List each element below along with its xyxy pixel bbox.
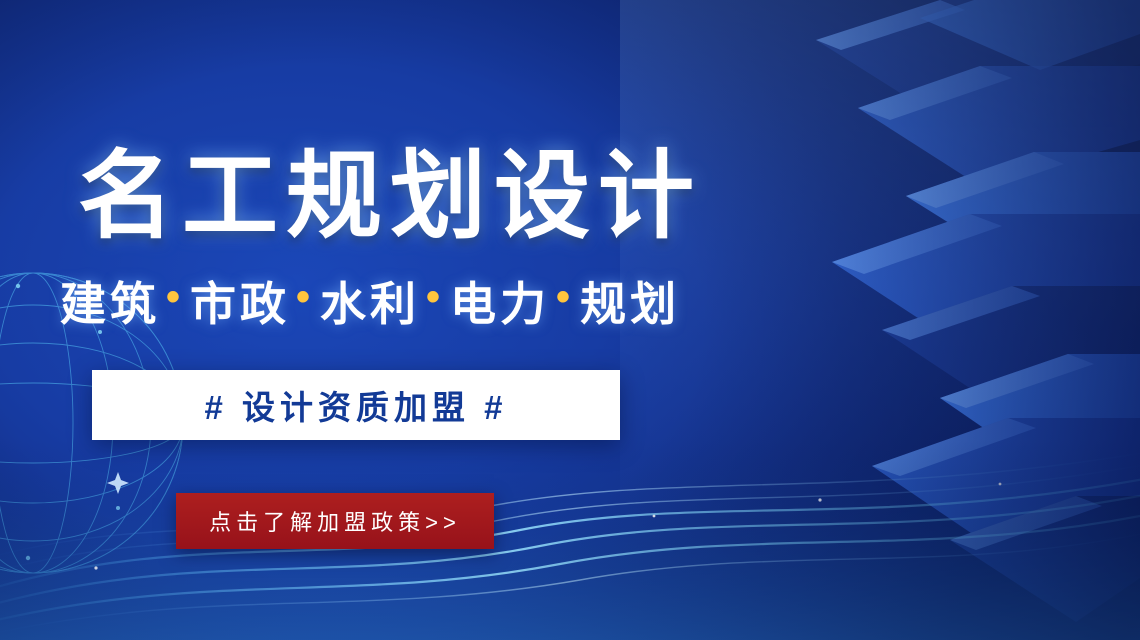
cta-button[interactable]: 点击了解加盟政策>> [176,493,494,549]
service-item-0: 建筑 [60,268,160,334]
separator-dot-2: • [420,275,450,320]
promo-banner: 名工规划设计 建筑 • 市政 • 水利 • 电力 • 规划 # 设计资质加盟 #… [0,0,1140,640]
separator-dot-3: • [550,275,580,320]
cta-button-label: 点击了解加盟政策>> [209,505,461,537]
service-list: 建筑 • 市政 • 水利 • 电力 • 规划 [60,268,680,334]
separator-dot-1: • [290,275,320,320]
service-item-4: 规划 [580,268,680,334]
headline-title: 名工规划设计 [78,118,702,257]
banner-content: 名工规划设计 建筑 • 市政 • 水利 • 电力 • 规划 # 设计资质加盟 #… [0,0,700,640]
tag-box-label: # 设计资质加盟 # [204,381,507,429]
tag-box: # 设计资质加盟 # [92,370,620,440]
service-item-2: 水利 [320,268,420,334]
service-item-1: 市政 [190,268,290,334]
service-item-3: 电力 [450,268,550,334]
separator-dot-0: • [160,275,190,320]
